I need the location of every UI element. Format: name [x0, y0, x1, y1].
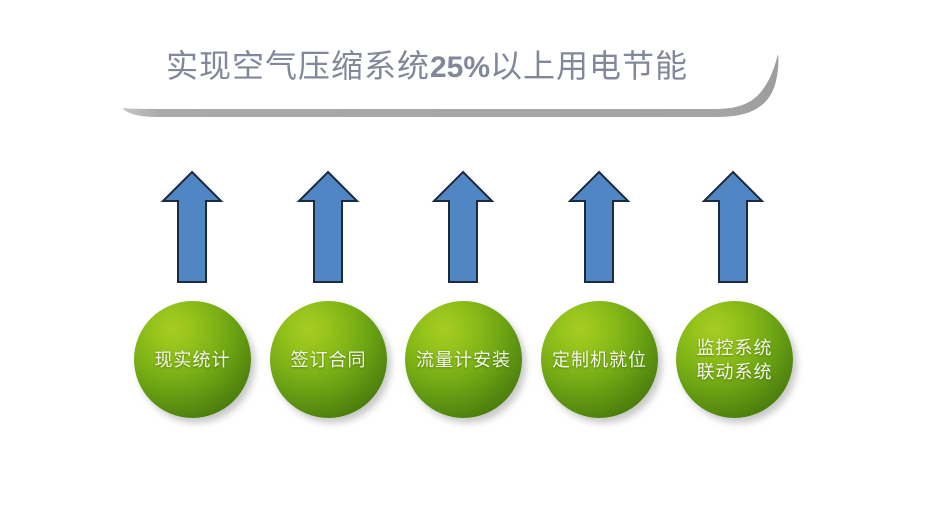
- title-prefix: 实现空气压缩系统: [166, 48, 430, 84]
- process-node-label: 监控系统 联动系统: [693, 336, 777, 384]
- title-percent: 25%: [430, 51, 490, 84]
- process-node-2[interactable]: 签订合同: [270, 301, 387, 418]
- slide-canvas: 实现空气压缩系统25%以上用电节能 现实统计 签订合同 流量计安装 定制机: [0, 0, 945, 529]
- process-node-1[interactable]: 现实统计: [134, 301, 251, 418]
- title-banner: 实现空气压缩系统25%以上用电节能: [118, 36, 788, 122]
- process-node-label: 签订合同: [287, 348, 371, 372]
- arrow-up-3: [432, 170, 494, 284]
- process-node-3[interactable]: 流量计安装: [405, 301, 522, 418]
- process-node-label: 流量计安装: [412, 348, 515, 372]
- process-node-label: 现实统计: [151, 348, 235, 372]
- process-node-5[interactable]: 监控系统 联动系统: [676, 301, 793, 418]
- arrow-up-1: [161, 170, 223, 284]
- arrow-up-5: [702, 170, 764, 284]
- process-node-4[interactable]: 定制机就位: [541, 301, 658, 418]
- page-title: 实现空气压缩系统25%以上用电节能: [118, 42, 736, 92]
- arrow-up-2: [297, 170, 359, 284]
- title-suffix: 以上用电节能: [490, 48, 688, 84]
- arrow-up-4: [568, 170, 630, 284]
- process-node-label: 定制机就位: [548, 348, 651, 372]
